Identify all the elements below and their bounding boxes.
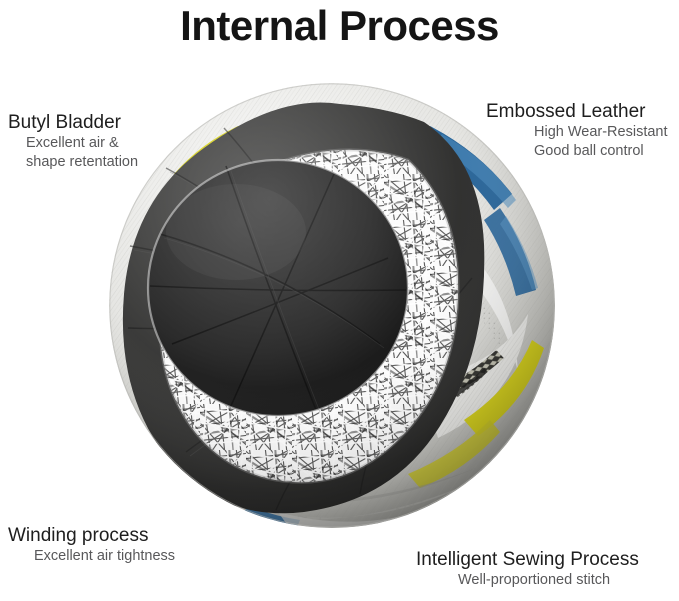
callout-subline: Well-proportioned stitch: [416, 571, 639, 590]
callout-subline: Excellent air &: [8, 134, 138, 153]
callout-heading: Winding process: [8, 525, 175, 547]
callout-embossed-leather: Embossed Leather High Wear-Resistant Goo…: [486, 101, 668, 161]
callout-heading: Intelligent Sewing Process: [416, 549, 639, 571]
callout-subline: Good ball control: [486, 142, 668, 161]
callout-subline: Excellent air tightness: [8, 547, 175, 566]
callout-winding-process: Winding process Excellent air tightness: [8, 525, 175, 566]
callout-subline: shape retentation: [8, 153, 138, 172]
callout-sewing-process: Intelligent Sewing Process Well-proporti…: [416, 549, 639, 590]
callout-subline: High Wear-Resistant: [486, 123, 668, 142]
callout-heading: Embossed Leather: [486, 101, 668, 123]
callout-butyl-bladder: Butyl Bladder Excellent air & shape rete…: [8, 112, 138, 172]
page-title: Internal Process: [0, 2, 679, 50]
callout-heading: Butyl Bladder: [8, 112, 138, 134]
